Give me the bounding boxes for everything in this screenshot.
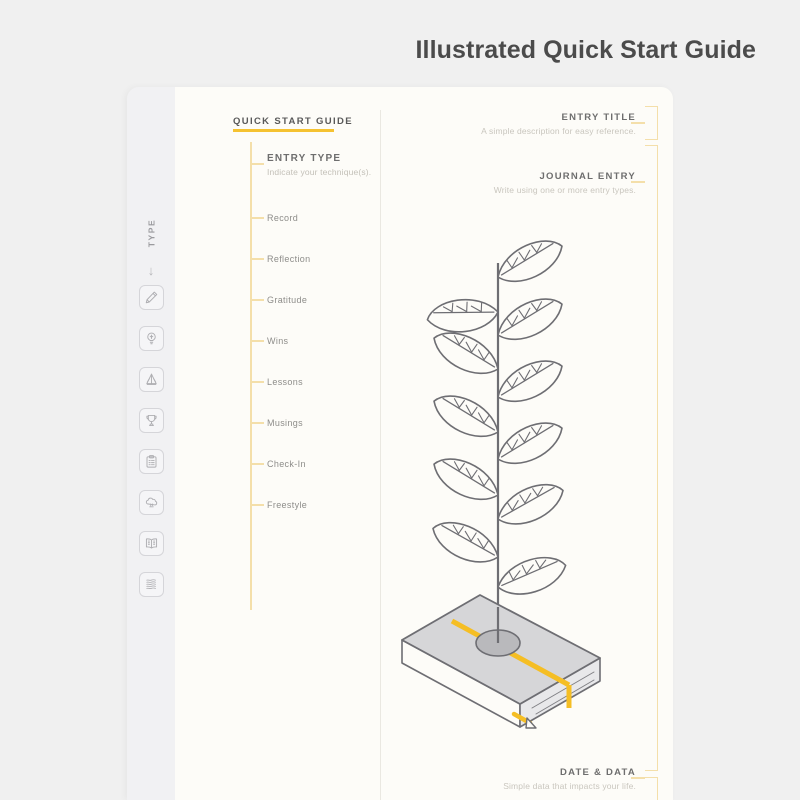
notebook-with-growing-plant-illustration <box>380 87 673 800</box>
list-item[interactable]: Musings <box>267 418 303 428</box>
bracket-tick <box>250 463 264 465</box>
list-item[interactable]: Lessons <box>267 377 303 387</box>
open-book-icon[interactable] <box>139 531 164 556</box>
bracket-tick <box>250 504 264 506</box>
list-item[interactable]: Record <box>267 213 298 223</box>
quick-start-guide-heading: QUICK START GUIDE <box>233 116 353 127</box>
bracket-tick <box>250 217 264 219</box>
quick-start-guide-card: TYPE ↓ <box>127 87 673 800</box>
bracket-tick <box>250 163 264 165</box>
bracket-tick <box>250 422 264 424</box>
bracket-tick <box>250 381 264 383</box>
entry-type-header: ENTRY TYPE Indicate your technique(s). <box>267 153 371 177</box>
scribble-lines-icon[interactable] <box>139 572 164 597</box>
leaves <box>424 236 568 598</box>
bracket-tick <box>250 258 264 260</box>
rail-type-label-text: TYPE <box>146 219 156 248</box>
praying-hands-icon[interactable] <box>139 367 164 392</box>
journal-notebook <box>402 595 600 728</box>
bracket-tick <box>250 340 264 342</box>
preview-canvas-panel: ENTRY TITLE A simple description for eas… <box>380 87 673 800</box>
page-title: Illustrated Quick Start Guide <box>416 36 756 65</box>
entry-type-bracket-line <box>250 142 252 610</box>
lightbulb-icon[interactable] <box>139 326 164 351</box>
entry-type-list-panel: QUICK START GUIDE ENTRY TYPE Indicate yo… <box>175 87 380 800</box>
thought-cloud-icon[interactable] <box>139 490 164 515</box>
trophy-icon[interactable] <box>139 408 164 433</box>
rail-type-label: TYPE <box>127 228 175 238</box>
entry-type-title: ENTRY TYPE <box>267 153 371 164</box>
clipboard-icon[interactable] <box>139 449 164 474</box>
list-item[interactable]: Freestyle <box>267 500 307 510</box>
list-item[interactable]: Gratitude <box>267 295 307 305</box>
list-item[interactable]: Reflection <box>267 254 311 264</box>
pencil-icon[interactable] <box>139 285 164 310</box>
entry-type-subtitle: Indicate your technique(s). <box>267 167 371 177</box>
icon-rail: TYPE ↓ <box>127 87 175 800</box>
panel-divider <box>380 110 381 800</box>
heading-underline <box>233 129 334 132</box>
bracket-tick <box>250 299 264 301</box>
list-item[interactable]: Wins <box>267 336 288 346</box>
list-item[interactable]: Check-In <box>267 459 306 469</box>
down-arrow-icon: ↓ <box>127 264 175 277</box>
